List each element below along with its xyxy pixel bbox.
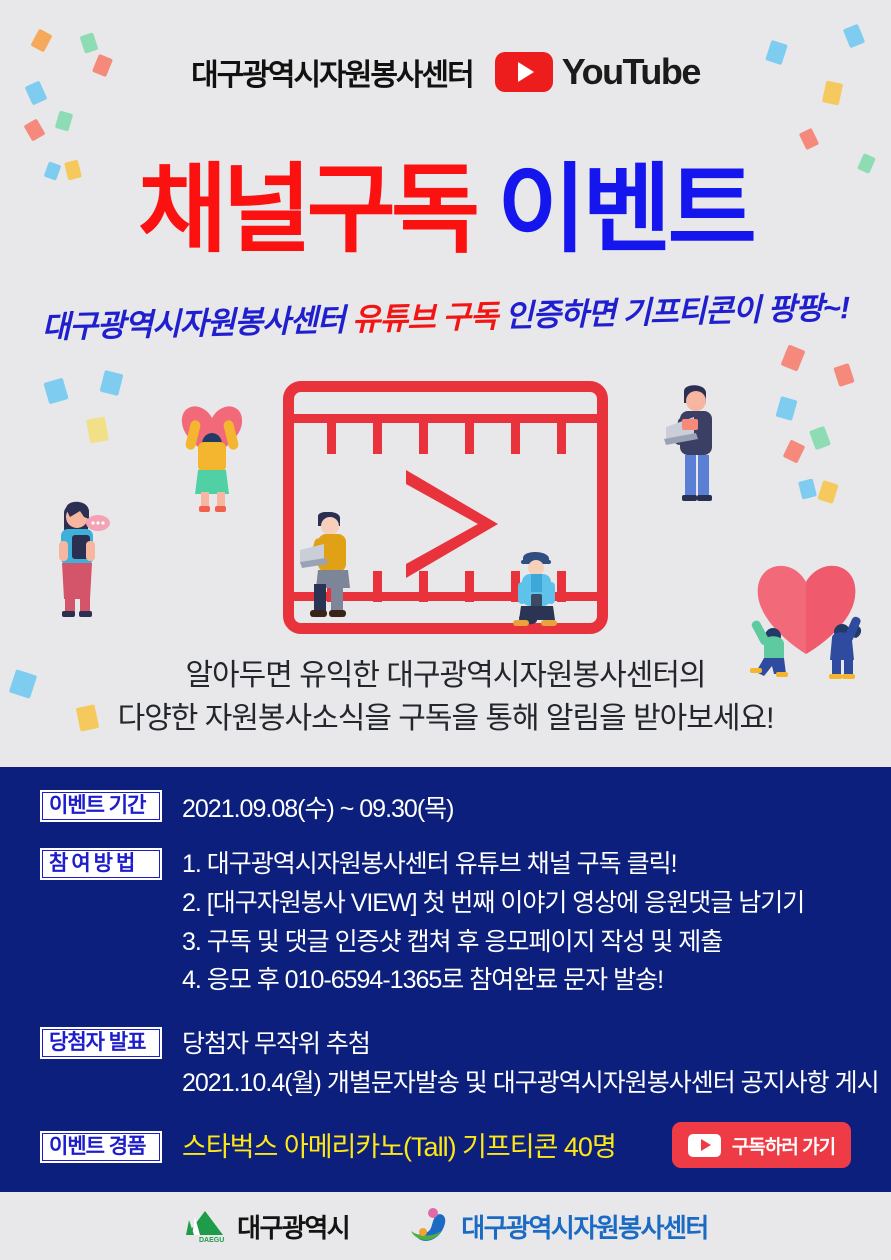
confetti-piece [100,370,124,396]
label-event-prize: 이벤트 경품 [40,1131,162,1163]
confetti-piece [798,478,817,499]
footer: DAEGU 대구광역시 대구광역시자원봉사센터 [0,1192,891,1260]
youtube-logo: YouTube [495,51,700,93]
description-line-1: 알아두면 유익한 대구광역시자원봉사센터의 [0,655,891,698]
logo-daegu-city: DAEGU 대구광역시 [183,1208,349,1245]
label-event-period: 이벤트 기간 [40,790,162,822]
participation-steps: 1. 대구광역시자원봉사센터 유튜브 채널 구독 클릭! 2. [대구자원봉사 … [182,845,804,1000]
subtitle-lead: 대구광역시자원봉사센터 [41,302,352,345]
header-row: 대구광역시자원봉사센터 YouTube [0,50,891,94]
subscribe-button-label: 구독하러 가기 [732,1132,835,1159]
info-row-period: 이벤트 기간 2021.09.08(수) ~ 09.30(목) [40,790,453,829]
youtube-play-icon-small [688,1134,721,1157]
youtube-play-icon [495,52,553,92]
description-line-2: 다양한 자원봉사소식을 구독을 통해 알림을 받아보세요! [0,698,891,741]
subtitle: 대구광역시자원봉사센터 유튜브 구독 인증하면 기프티콘이 팡팡~! [0,281,891,348]
label-winner-announcement: 당첨자 발표 [40,1027,162,1059]
illustration-woman-holding-heart [176,378,248,513]
header-organization: 대구광역시자원봉사센터 [191,50,473,94]
title-part-red: 채널구독 [138,155,475,264]
confetti-piece [30,29,52,53]
top-section: 대구광역시자원봉사센터 YouTube 채널구독이벤트 대구광역시자원봉사센터 … [0,0,891,767]
confetti-piece [43,378,68,405]
volunteer-center-mark-icon [407,1207,451,1245]
value-prize-group: 스타벅스 아메리카노(Tall) 기프티콘 40명 [182,1127,616,1169]
value-event-period-group: 2021.09.08(수) ~ 09.30(목) [182,790,453,829]
confetti-piece [86,417,109,444]
logo-volunteer-center: 대구광역시자원봉사센터 [407,1207,708,1245]
confetti-piece [781,344,806,371]
winner-line: 당첨자 무작위 추첨 [182,1025,879,1064]
info-row-winners: 당첨자 발표 당첨자 무작위 추첨 2021.10.4(월) 개별문자발송 및 … [40,1027,879,1103]
film-strip-frame [283,381,608,634]
logo-daegu-city-label: 대구광역시 [237,1208,349,1245]
winner-lines: 당첨자 무작위 추첨 2021.10.4(월) 개별문자발송 및 대구광역시자원… [182,1025,879,1103]
participation-step: 4. 응모 후 010-6594-1365로 참여완료 문자 발송! [182,961,804,1000]
title-part-blue: 이벤트 [497,155,753,264]
poster-root: 대구광역시자원봉사센터 YouTube 채널구독이벤트 대구광역시자원봉사센터 … [0,0,891,1260]
info-row-participation: 참여방법 1. 대구광역시자원봉사센터 유튜브 채널 구독 클릭! 2. [대구… [40,848,804,1000]
subtitle-tail: 인증하면 기프티콘이 팡팡~! [497,290,850,334]
value-event-prize: 스타벅스 아메리카노(Tall) 기프티콘 40명 [182,1127,616,1169]
confetti-piece [817,480,838,504]
illustration-woman-with-tablet [48,495,110,620]
confetti-piece [783,439,806,463]
youtube-wordmark: YouTube [562,51,700,93]
confetti-piece [775,396,797,421]
page-title: 채널구독이벤트 [0,130,891,271]
label-participation-method: 참여방법 [40,848,162,880]
subscribe-button[interactable]: 구독하러 가기 [672,1122,851,1168]
value-event-period: 2021.09.08(수) ~ 09.30(목) [182,790,453,829]
illustration-man-sitting-with-laptop [300,512,362,620]
illustration-man-sitting-with-phone [507,550,565,632]
participation-step: 1. 대구광역시자원봉사센터 유튜브 채널 구독 클릭! [182,845,804,884]
svg-text:DAEGU: DAEGU [199,1237,224,1243]
participation-step: 3. 구독 및 댓글 인증샷 캡쳐 후 응모페이지 작성 및 제출 [182,923,804,962]
daegu-mountain-icon: DAEGU [183,1209,227,1243]
confetti-piece [843,24,865,49]
confetti-piece [809,426,831,450]
participation-step: 2. [대구자원봉사 VIEW] 첫 번째 이야기 영상에 응원댓글 남기기 [182,884,804,923]
winner-line: 2021.10.4(월) 개별문자발송 및 대구광역시자원봉사센터 공지사항 게… [182,1064,879,1103]
info-row-prize: 이벤트 경품 스타벅스 아메리카노(Tall) 기프티콘 40명 [40,1131,616,1169]
confetti-piece [833,363,854,387]
logo-volunteer-center-label: 대구광역시자원봉사센터 [461,1208,708,1245]
subtitle-highlight: 유튜브 구독 [352,299,498,338]
description-block: 알아두면 유익한 대구광역시자원봉사센터의 다양한 자원봉사소식을 구독을 통해… [0,655,891,740]
illustration-man-with-laptop [660,385,726,507]
confetti-piece [55,110,73,131]
film-perforation-row-top [294,414,597,444]
